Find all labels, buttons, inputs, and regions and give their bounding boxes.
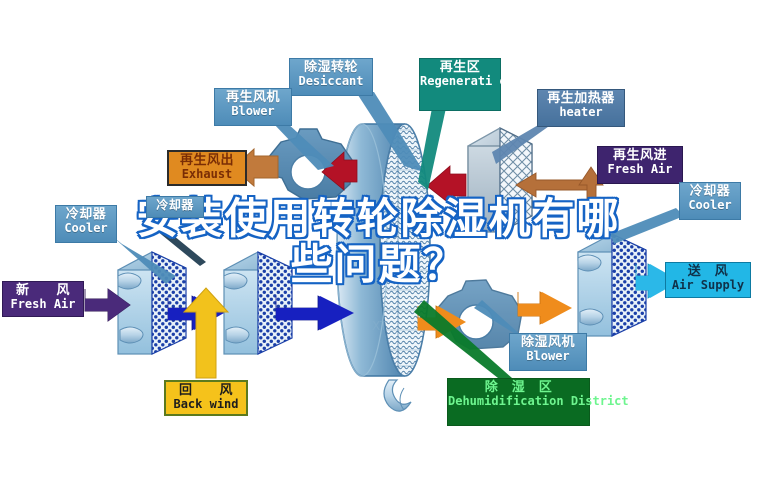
label-regen-blower-cn: 再生风机 xyxy=(215,91,291,105)
label-cooler-right-en: Cooler xyxy=(680,199,740,212)
label-cooler-right-cn: 冷却器 xyxy=(680,185,740,199)
label-regeneration-area: 再生区 Regenerati on Area xyxy=(419,58,501,111)
dehumidifier-diagram-image: XT xyxy=(0,0,757,488)
back-wind-arrow xyxy=(184,288,228,378)
label-cooler-mid-cn: 冷却器 xyxy=(147,199,203,212)
label-regeneration-area-cn: 再生区 xyxy=(420,61,500,75)
diagram-artboard: XT xyxy=(0,0,757,488)
dehumid-orange-arrow-2 xyxy=(518,292,572,324)
label-cooler-right: 冷却器 Cooler xyxy=(679,182,741,220)
cooler-right-pipe-top xyxy=(578,255,601,271)
cooler-right-pipe-bottom xyxy=(580,309,603,325)
cooler-mid-pipe-top xyxy=(224,273,247,289)
label-fresh-air-in-cn: 新 风 xyxy=(3,284,83,298)
label-regen-exhaust-en: Exhaust xyxy=(169,168,245,181)
label-dehumid-district-en: Dehumidification District xyxy=(448,395,589,408)
label-regen-exhaust: 再生风出 Exhaust xyxy=(167,150,247,186)
label-dehumid-district: 除 湿 区 Dehumidification District xyxy=(447,378,590,426)
label-air-supply-en: Air Supply xyxy=(666,279,750,292)
label-air-supply-cn: 送 风 xyxy=(666,265,750,279)
label-dehumid-blower: 除湿风机 Blower xyxy=(509,333,587,371)
label-back-wind-cn: 回 风 xyxy=(166,384,246,398)
label-back-wind-en: Back wind xyxy=(166,398,246,411)
label-desiccant-rotor-cn: 除湿转轮 xyxy=(290,61,372,75)
label-regen-heater-en: heater xyxy=(538,106,624,119)
label-regen-blower-en: Blower xyxy=(215,105,291,118)
label-dehumid-blower-cn: 除湿风机 xyxy=(510,336,586,350)
cooler-mid-mesh xyxy=(258,252,292,354)
label-regen-exhaust-cn: 再生风出 xyxy=(169,154,245,168)
cooler-mid-pipe-bottom xyxy=(226,327,249,343)
label-air-supply: 送 风 Air Supply xyxy=(665,262,751,298)
label-fresh-air-in-en: Fresh Air xyxy=(3,298,83,311)
label-regen-blower: 再生风机 Blower xyxy=(214,88,292,126)
label-regeneration-area-en: Regenerati on Area xyxy=(420,75,500,88)
label-cooler-left-en: Cooler xyxy=(56,222,116,235)
cooler-left-pipe-bottom xyxy=(120,327,143,343)
label-cooler-mid: 冷却器 xyxy=(146,196,204,218)
label-dehumid-blower-en: Blower xyxy=(510,350,586,363)
cooler-left-pipe-top xyxy=(118,273,141,289)
label-regen-fresh-air-en: Fresh Air xyxy=(598,163,682,176)
label-dehumid-district-cn: 除 湿 区 xyxy=(448,381,589,395)
rotor-watermark: XT xyxy=(372,319,388,333)
rotor-drive-belt xyxy=(384,380,411,411)
regen-red-arrow-right xyxy=(427,166,466,204)
label-regen-heater: 再生加热器 heater xyxy=(537,89,625,127)
label-cooler-left: 冷却器 Cooler xyxy=(55,205,117,243)
label-desiccant-rotor: 除湿转轮 Desiccant xyxy=(289,58,373,96)
label-regen-heater-cn: 再生加热器 xyxy=(538,92,624,106)
label-regen-fresh-air-cn: 再生风进 xyxy=(598,149,682,163)
label-desiccant-rotor-en: Desiccant xyxy=(290,75,372,88)
label-cooler-left-cn: 冷却器 xyxy=(56,208,116,222)
label-regen-fresh-air: 再生风进 Fresh Air xyxy=(597,146,683,184)
cooler-unit-mid xyxy=(224,252,292,354)
leader-cooler-right xyxy=(610,208,684,244)
label-back-wind: 回 风 Back wind xyxy=(164,380,248,416)
label-fresh-air-in: 新 风 Fresh Air xyxy=(2,281,84,317)
